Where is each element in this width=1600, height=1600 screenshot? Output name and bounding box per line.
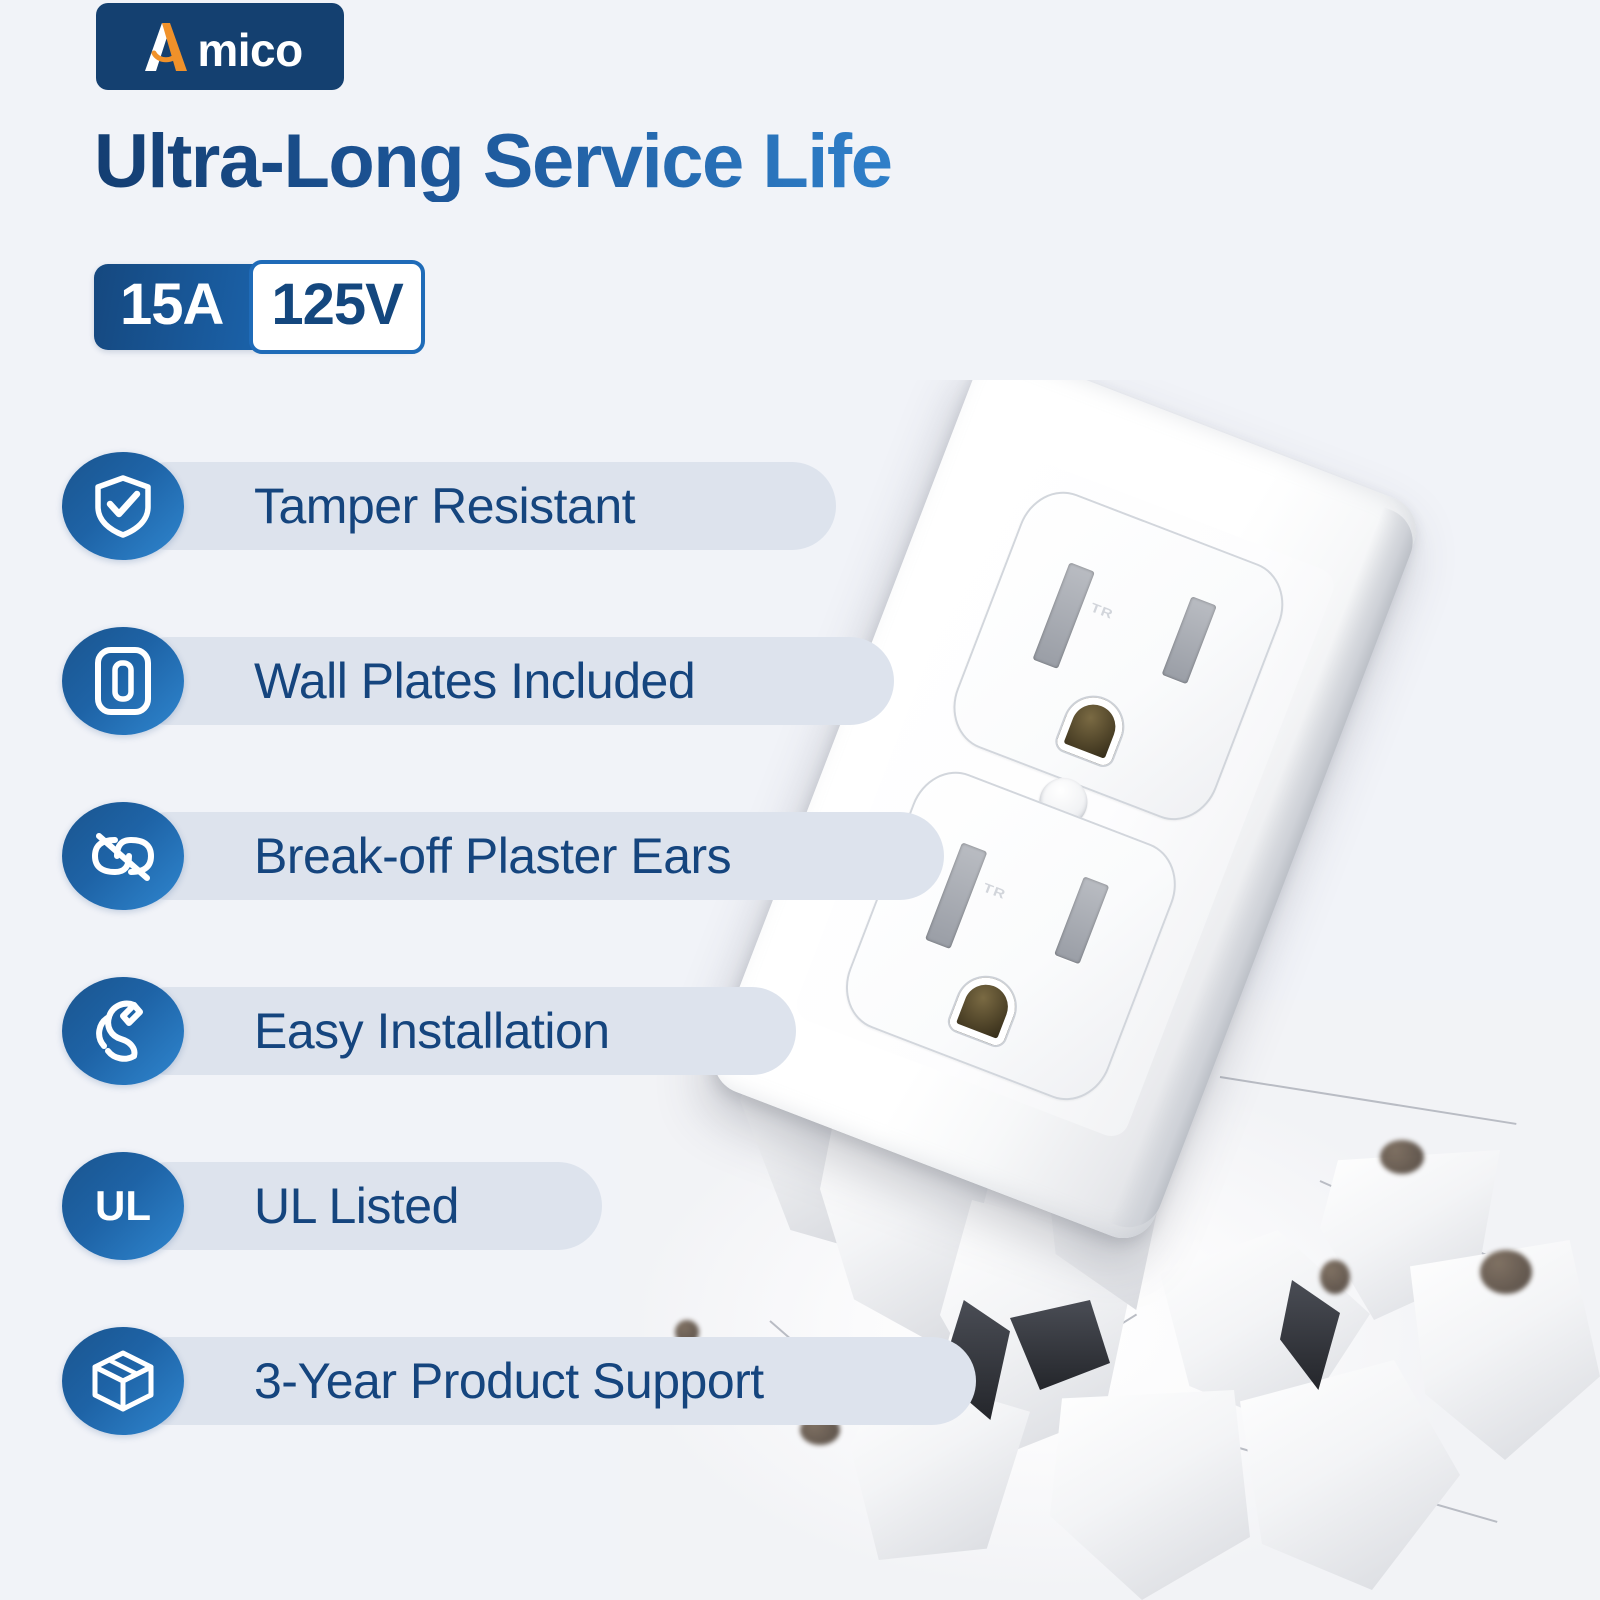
feature-pill: Tamper Resistant [124,462,836,550]
hot-slot-top [1162,596,1217,684]
ul-mark-text: UL [95,1185,151,1227]
neutral-slot-top [1032,562,1094,669]
feature-item-tamper-resistant: Tamper Resistant [62,452,184,560]
feature-pill: Break-off Plaster Ears [124,812,944,900]
shield-check-icon [62,452,184,560]
infographic-canvas: TR TR mico Ultra-Long [0,0,1600,1600]
feature-item-wall-plates: Wall Plates Included [62,627,184,735]
feature-item-easy-installation: Easy Installation [62,977,184,1085]
wrench-icon [62,977,184,1085]
feature-label: Tamper Resistant [254,481,635,531]
ground-pin-bottom [947,969,1023,1048]
amico-logo: mico [96,3,344,90]
feature-label: UL Listed [254,1181,459,1231]
wall-plate-icon [62,627,184,735]
logo-wordmark: mico [197,27,302,73]
feature-item-break-off-ears: Break-off Plaster Ears [62,802,184,910]
tr-marking-bottom: TR [981,881,1008,903]
hot-slot-bottom [1054,876,1109,964]
feature-label: Wall Plates Included [254,656,695,706]
ground-pin-top [1054,689,1130,768]
feature-list: Tamper Resistant Wall Plates Included [62,452,184,1502]
feature-pill: Wall Plates Included [124,637,894,725]
feature-pill: UL Listed [124,1162,602,1250]
amperage-value: 15A [120,276,245,334]
feature-pill: 3-Year Product Support [124,1337,976,1425]
feature-label: Break-off Plaster Ears [254,831,731,881]
broken-link-icon [62,802,184,910]
feature-label: 3-Year Product Support [254,1356,764,1406]
ul-mark-icon: UL [62,1152,184,1260]
package-box-icon [62,1327,184,1435]
logo-a-mark-icon [137,19,195,75]
feature-item-product-support: 3-Year Product Support [62,1327,184,1435]
page-title: Ultra-Long Service Life [94,122,891,202]
feature-pill: Easy Installation [124,987,796,1075]
voltage-value: 125V [249,260,424,354]
spec-badge: 15A 125V [94,264,421,350]
feature-label: Easy Installation [254,1006,610,1056]
tr-marking-top: TR [1088,601,1115,623]
feature-item-ul-listed: UL Listed UL [62,1152,184,1260]
